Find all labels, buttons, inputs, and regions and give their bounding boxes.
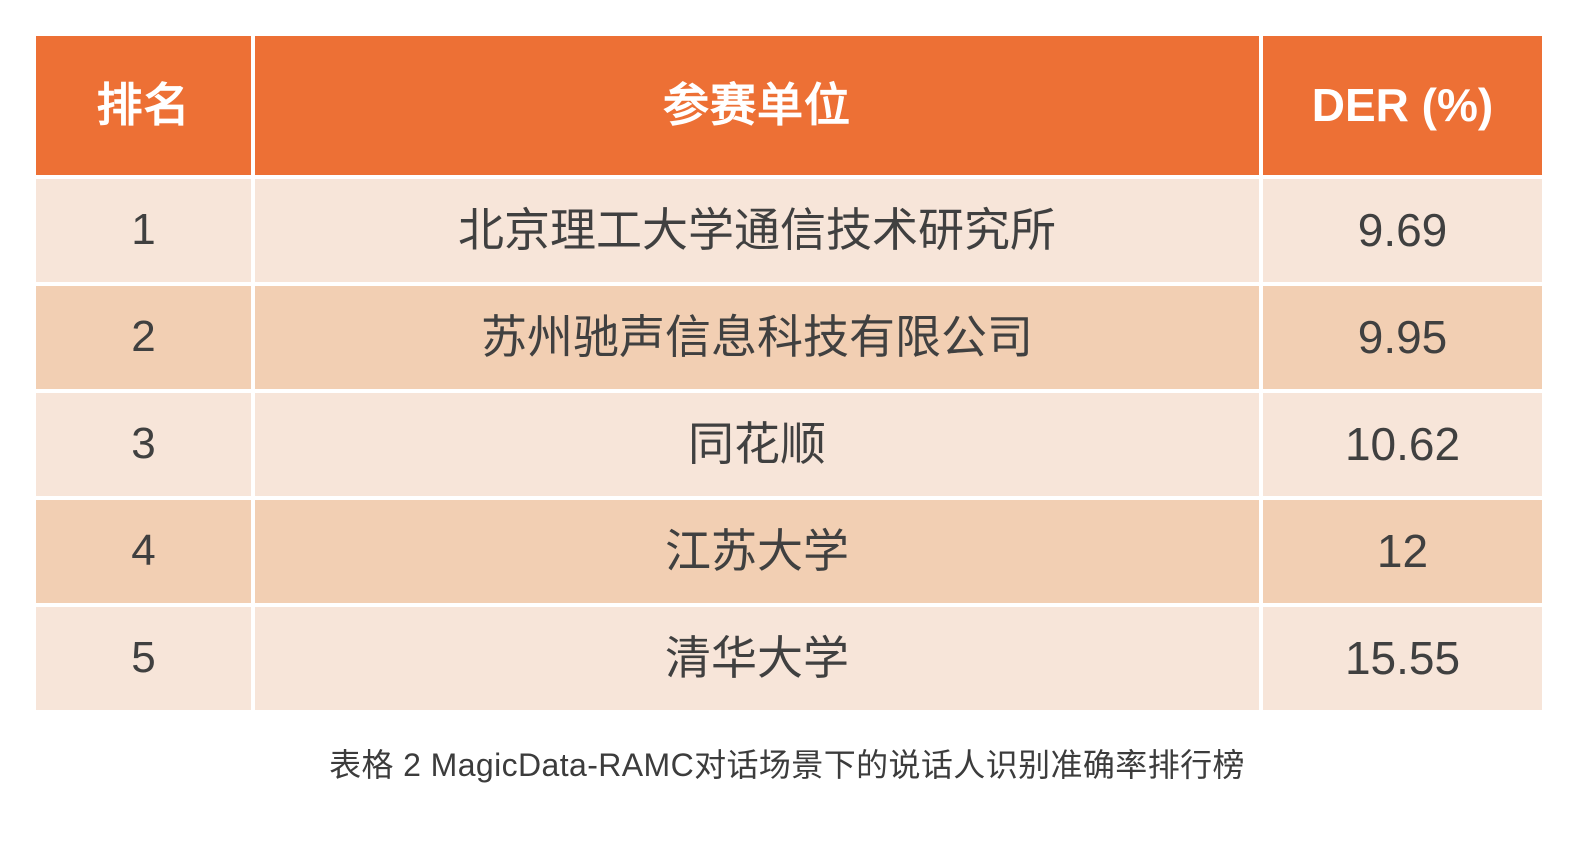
page-root: 排名 参赛单位 DER (%) 1 北京理工大学通信技术研究所 9.69 2 苏… xyxy=(0,0,1574,852)
table-row: 3 同花顺 10.62 xyxy=(36,393,1542,496)
table-row: 5 清华大学 15.55 xyxy=(36,607,1542,710)
table-caption: 表格 2 MagicData-RAMC对话场景下的说话人识别准确率排行榜 xyxy=(0,740,1574,786)
cell-unit: 苏州驰声信息科技有限公司 xyxy=(255,286,1259,389)
cell-unit: 清华大学 xyxy=(255,607,1259,710)
table-row: 1 北京理工大学通信技术研究所 9.69 xyxy=(36,179,1542,282)
table-row: 4 江苏大学 12 xyxy=(36,500,1542,603)
cell-rank: 1 xyxy=(36,179,251,282)
cell-unit: 北京理工大学通信技术研究所 xyxy=(255,179,1259,282)
cell-rank: 4 xyxy=(36,500,251,603)
cell-der: 10.62 xyxy=(1263,393,1542,496)
table-row: 2 苏州驰声信息科技有限公司 9.95 xyxy=(36,286,1542,389)
cell-rank: 2 xyxy=(36,286,251,389)
table-header: 排名 参赛单位 DER (%) xyxy=(36,36,1542,175)
ranking-table-container: 排名 参赛单位 DER (%) 1 北京理工大学通信技术研究所 9.69 2 苏… xyxy=(36,36,1538,710)
cell-unit: 同花顺 xyxy=(255,393,1259,496)
cell-der: 12 xyxy=(1263,500,1542,603)
table-header-row: 排名 参赛单位 DER (%) xyxy=(36,36,1542,175)
cell-der: 9.69 xyxy=(1263,179,1542,282)
cell-der: 9.95 xyxy=(1263,286,1542,389)
table-body: 1 北京理工大学通信技术研究所 9.69 2 苏州驰声信息科技有限公司 9.95… xyxy=(36,179,1542,710)
cell-unit: 江苏大学 xyxy=(255,500,1259,603)
column-header-rank: 排名 xyxy=(36,36,251,175)
cell-rank: 5 xyxy=(36,607,251,710)
cell-rank: 3 xyxy=(36,393,251,496)
column-header-der: DER (%) xyxy=(1263,36,1542,175)
ranking-table: 排名 参赛单位 DER (%) 1 北京理工大学通信技术研究所 9.69 2 苏… xyxy=(32,32,1546,714)
cell-der: 15.55 xyxy=(1263,607,1542,710)
column-header-unit: 参赛单位 xyxy=(255,36,1259,175)
